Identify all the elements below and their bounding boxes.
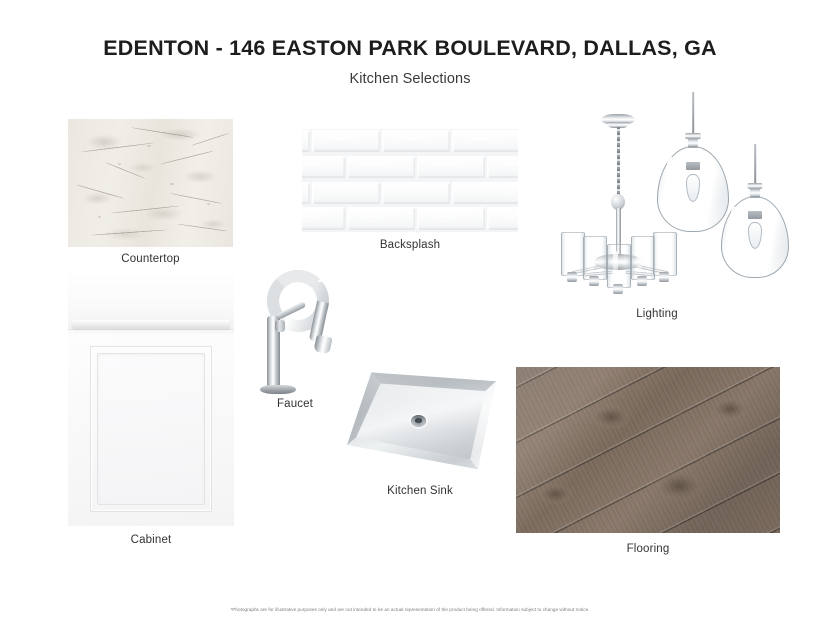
board-header: EDENTON - 146 EASTON PARK BOULEVARD, DAL… (0, 36, 820, 87)
selection-countertop[interactable]: Countertop (68, 119, 233, 247)
cabinet-drawer-front (68, 272, 234, 330)
cabinet-label: Cabinet (68, 534, 234, 546)
kitchen-sink-label: Kitchen Sink (344, 485, 496, 497)
chandelier-shade-1 (561, 232, 585, 276)
flooring-swatch-image (516, 367, 780, 533)
selection-cabinet[interactable]: Cabinet (68, 272, 234, 526)
flooring-sheen (516, 367, 780, 533)
cabinet-door-front (68, 334, 234, 526)
selection-backsplash[interactable]: Backsplash (302, 129, 518, 232)
pendant-1-socket (686, 162, 700, 170)
chandelier-shade-4 (631, 236, 655, 280)
chandelier-socket-1 (567, 272, 577, 282)
pendant-2-socket (748, 211, 762, 219)
selections-board: EDENTON - 146 EASTON PARK BOULEVARD, DAL… (0, 0, 820, 633)
page-subtitle: Kitchen Selections (0, 71, 820, 87)
cabinet-drawer-lip (72, 320, 230, 329)
faucet-spray-head (313, 335, 332, 355)
lighting-swatch-image (533, 92, 781, 304)
lighting-label: Lighting (533, 308, 781, 320)
selection-lighting[interactable]: Lighting (533, 92, 781, 304)
countertop-swatch-image (68, 119, 233, 247)
pendant-1-cord (692, 92, 694, 134)
countertop-label: Countertop (68, 253, 233, 265)
cabinet-swatch-image (68, 272, 234, 526)
faucet-swatch-image (242, 258, 348, 394)
faucet-handle-joint (275, 320, 285, 332)
selection-kitchen-sink[interactable]: Kitchen Sink (344, 368, 496, 478)
chandelier-socket-4 (637, 276, 647, 286)
chandelier-shade-2 (583, 236, 607, 280)
pendant-2-cord (754, 144, 756, 184)
backsplash-label: Backsplash (302, 239, 518, 251)
chandelier-socket-3 (613, 284, 623, 294)
chandelier-shade-3 (607, 244, 631, 288)
chandelier-socket-2 (589, 276, 599, 286)
backsplash-swatch-image (302, 129, 518, 232)
faucet-base-plate (260, 385, 296, 394)
cabinet-door-inner-panel (97, 353, 205, 505)
sink-swatch-image (344, 368, 496, 478)
footer-disclaimer: *Photographs are for illustrative purpos… (0, 607, 820, 613)
chandelier-socket-5 (659, 272, 669, 282)
flooring-label: Flooring (516, 543, 780, 555)
chandelier-chain (617, 127, 620, 195)
cabinet-door-outer-frame (90, 346, 212, 512)
page-title: EDENTON - 146 EASTON PARK BOULEVARD, DAL… (0, 36, 820, 62)
selection-faucet[interactable]: Faucet (242, 258, 348, 394)
faucet-label: Faucet (242, 398, 348, 410)
pendant-light-2 (719, 144, 791, 292)
selection-flooring[interactable]: Flooring (516, 367, 780, 533)
